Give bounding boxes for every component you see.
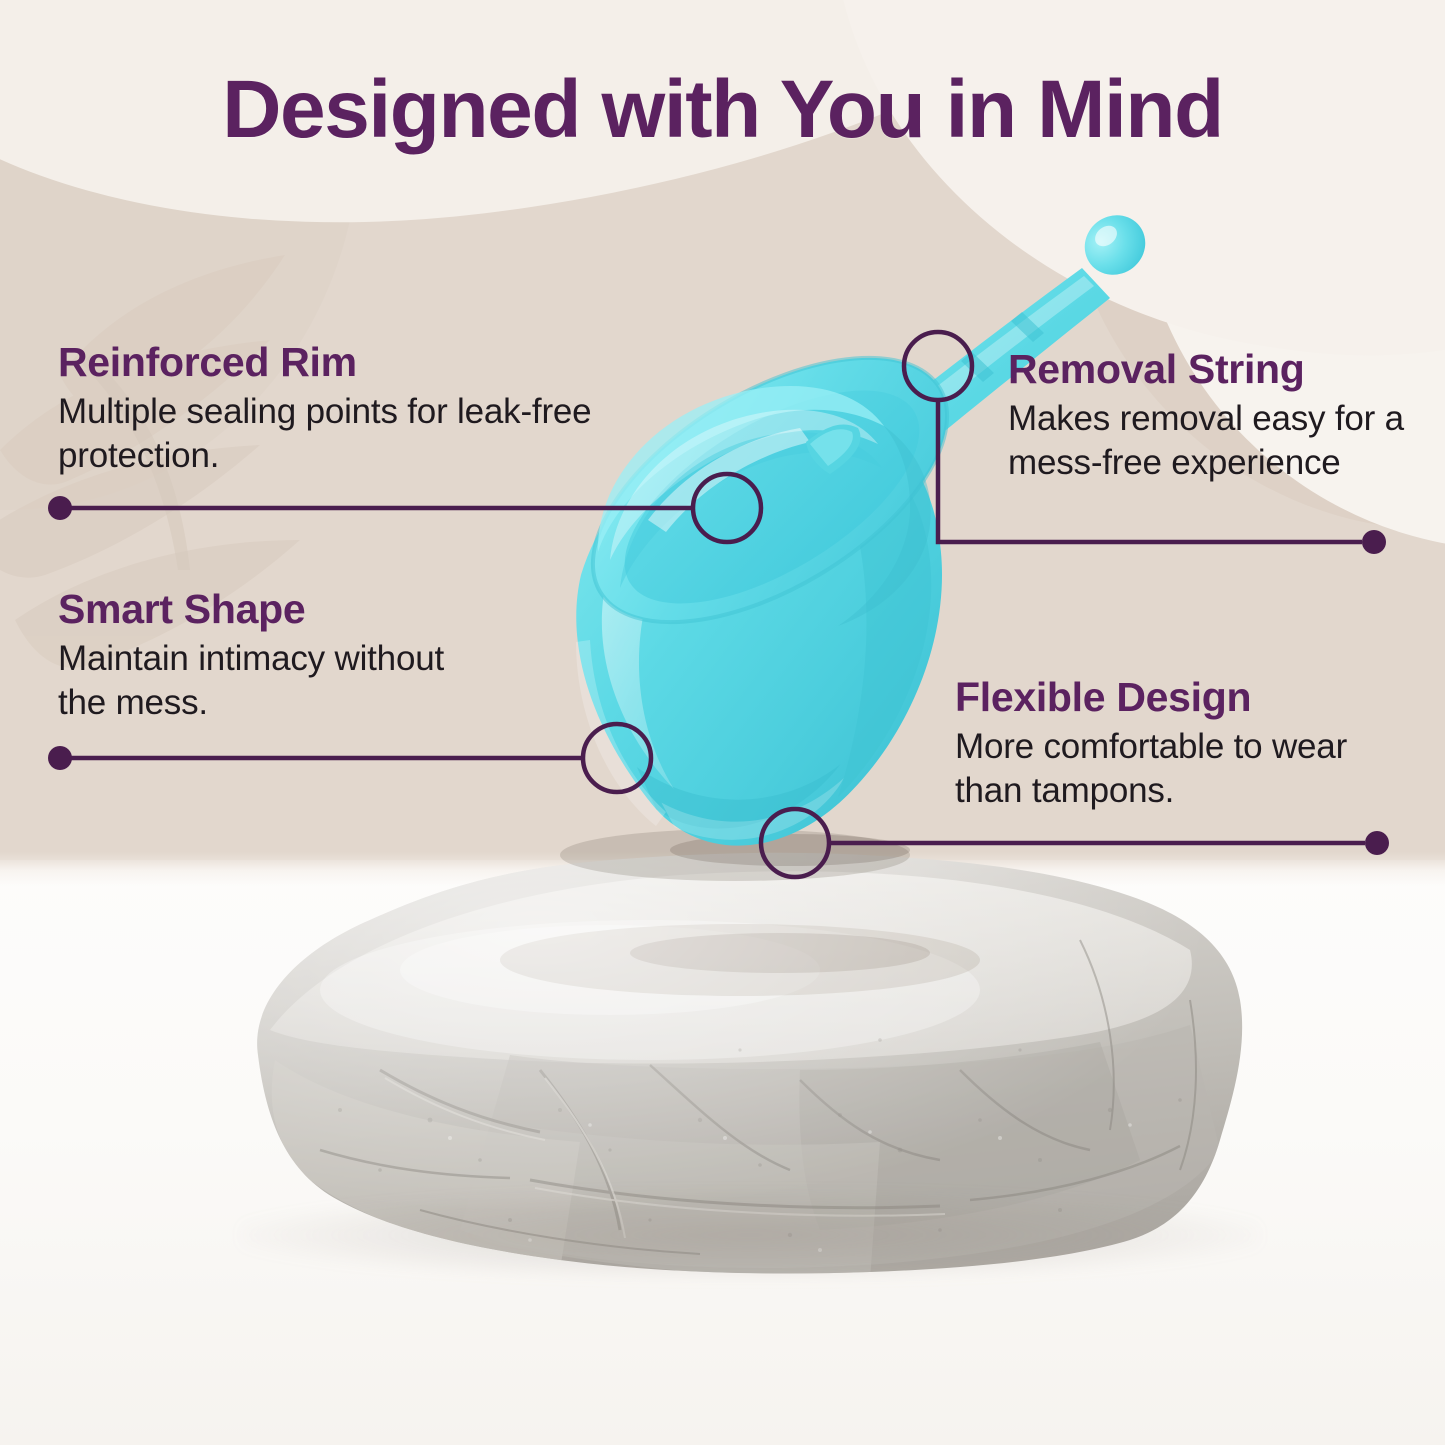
callout-title-flexible-design: Flexible Design — [955, 673, 1375, 721]
callout-body-removal-string: Makes removal easy for a mess-free exper… — [1008, 397, 1408, 485]
callout-flexible-design: Flexible Design More comfortable to wear… — [955, 673, 1375, 813]
callout-title-smart-shape: Smart Shape — [58, 585, 478, 633]
infographic-canvas: Designed with You in Mind Reinforced Rim… — [0, 0, 1445, 1445]
callout-smart-shape: Smart Shape Maintain intimacy without th… — [58, 585, 478, 725]
leader-circle-flexible-design — [761, 809, 829, 877]
leader-dot-flexible-design — [1365, 831, 1389, 855]
callout-body-reinforced-rim: Multiple sealing points for leak-free pr… — [58, 390, 618, 478]
page-title: Designed with You in Mind — [0, 62, 1445, 158]
leader-circle-reinforced-rim — [693, 474, 761, 542]
callout-removal-string: Removal String Makes removal easy for a … — [1008, 345, 1408, 485]
leader-dot-smart-shape — [48, 746, 72, 770]
leader-circle-smart-shape — [583, 724, 651, 792]
callout-title-removal-string: Removal String — [1008, 345, 1408, 393]
callout-title-reinforced-rim: Reinforced Rim — [58, 338, 618, 386]
callout-body-flexible-design: More comfortable to wear than tampons. — [955, 725, 1375, 813]
leader-dot-reinforced-rim — [48, 496, 72, 520]
callout-reinforced-rim: Reinforced Rim Multiple sealing points f… — [58, 338, 618, 478]
leader-dot-removal-string — [1362, 530, 1386, 554]
callout-body-smart-shape: Maintain intimacy without the mess. — [58, 637, 478, 725]
leader-circle-removal-string — [904, 332, 972, 400]
